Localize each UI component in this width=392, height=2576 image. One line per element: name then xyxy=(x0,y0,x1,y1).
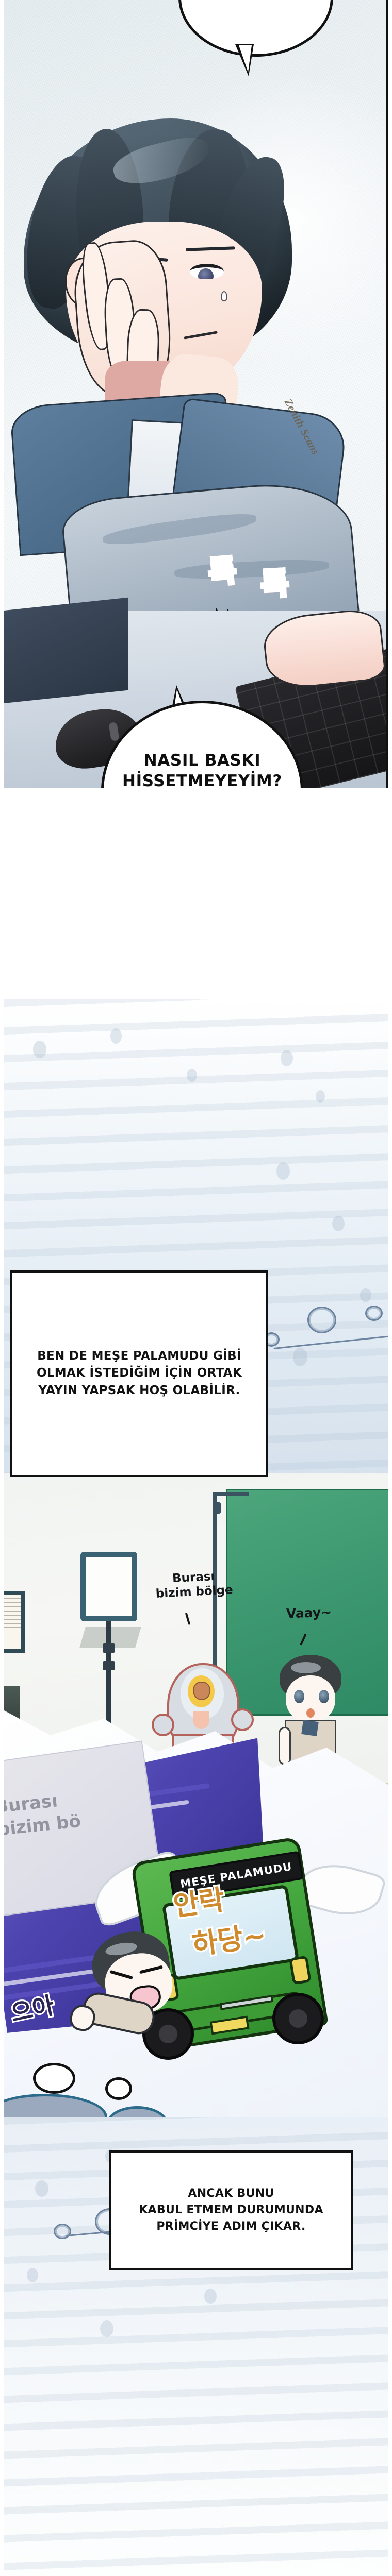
backdrop-stand-arm xyxy=(213,1492,249,1496)
handwritten-burasi: Burası bizim bölge xyxy=(142,1568,247,1602)
narration-line-1: BEN DE MEŞE PALAMUDU GİBİ xyxy=(37,1348,242,1365)
scribble-knot xyxy=(307,1307,336,1333)
speech-line-2: HİSSETMEYEYİM? xyxy=(104,771,301,788)
bokeh-dot xyxy=(293,1348,307,1366)
narration-box-2: ANCAK BUNU KABUL ETMEM DURUMUNDA PRİMCİY… xyxy=(109,2150,353,2270)
narration-line-2: OLMAK İSTEDİĞİM İÇİN ORTAK xyxy=(37,1365,242,1382)
studio-light-icon xyxy=(80,1552,137,1621)
scribble-knot xyxy=(54,2224,71,2239)
speech-bubble-main-text: NASIL BASKI HİSSETMEYEYİM? xyxy=(104,751,301,788)
panel-narration-1: BEN DE MEŞE PALAMUDU GİBİ OLMAK İSTEDİĞİ… xyxy=(4,999,388,1494)
bokeh-dot xyxy=(316,1090,325,1103)
monitor-screen-lines xyxy=(4,1597,21,1628)
bokeh-dot xyxy=(332,1216,345,1231)
chibi-boy-eye-right xyxy=(319,1690,329,1703)
bokeh-dot xyxy=(281,1050,293,1066)
narration2-line-1: ANCAK BUNU xyxy=(139,2185,323,2202)
page-right-margin xyxy=(388,0,392,2576)
webtoon-page: Zenith Scans 톡 톡 NASIL BASKI HİSSETMEYEY… xyxy=(0,0,392,2576)
chibi-boy-eye-left xyxy=(294,1690,304,1703)
narration-text-2: ANCAK BUNU KABUL ETMEM DURUMUNDA PRİMCİY… xyxy=(132,2185,331,2235)
panel-narration-2: ANCAK BUNU KABUL ETMEM DURUMUNDA PRİMCİY… xyxy=(4,2117,388,2576)
speech-tick-mark xyxy=(185,1613,190,1625)
sweat-drop-icon xyxy=(221,291,227,301)
scribble-knot xyxy=(365,1306,383,1321)
dust-puff xyxy=(105,2077,132,2100)
panel-bus-scene: Burası bizim bö MEŞE PALAMUDU 안락 하당~ 으아 xyxy=(4,1710,388,2123)
speech-line-1: NASIL BASKI xyxy=(104,751,301,771)
backdrop-stand-knob xyxy=(214,1502,221,1514)
bokeh-dot xyxy=(27,2268,38,2282)
speech-bubble-top-tail xyxy=(235,44,254,76)
desk-shadow xyxy=(4,598,128,703)
bokeh-dot xyxy=(100,2320,113,2337)
iris xyxy=(198,268,214,279)
bokeh-dot xyxy=(276,1162,290,1180)
dust-puff xyxy=(33,2063,75,2094)
bokeh-dot xyxy=(35,2180,48,2197)
chibi-boy-hair-highlight xyxy=(291,1662,321,1673)
light-stand-clamp xyxy=(103,1643,115,1653)
bokeh-dot xyxy=(33,1041,46,1058)
handwritten-vaay: Vaay~ xyxy=(270,1604,348,1622)
narration2-line-2: KABUL ETMEM DURUMUNDA xyxy=(139,2202,323,2218)
narration-text-1: BEN DE MEŞE PALAMUDU GİBİ OLMAK İSTEDİĞİ… xyxy=(29,1348,249,1399)
panel-desk-scene: Zenith Scans 톡 톡 NASIL BASKI HİSSETMEYEY… xyxy=(4,0,388,788)
bokeh-dot xyxy=(187,1069,197,1082)
bokeh-dot xyxy=(360,1288,371,1302)
panel-gutter xyxy=(0,788,392,999)
bokeh-dot xyxy=(110,1028,122,1044)
bokeh-dot xyxy=(204,2289,217,2304)
sfx-tok-1: 톡 xyxy=(206,546,237,591)
bus-wheel-right xyxy=(272,1993,324,2044)
narration-box-1: BEN DE MEŞE PALAMUDU GİBİ OLMAK İSTEDİĞİ… xyxy=(10,1270,268,1477)
narration2-line-3: PRİMCİYE ADIM ÇIKAR. xyxy=(139,2218,323,2235)
narration-line-3: YAYIN YAPSAK HOŞ OLABİLİR. xyxy=(37,1382,242,1399)
acorn-nut-icon xyxy=(193,1682,210,1700)
sfx-tok-2: 톡 xyxy=(260,559,290,604)
light-stand-clamp xyxy=(103,1661,115,1670)
korean-sfx-line-1: 안락 xyxy=(172,1886,226,1920)
eye-right xyxy=(190,264,224,279)
